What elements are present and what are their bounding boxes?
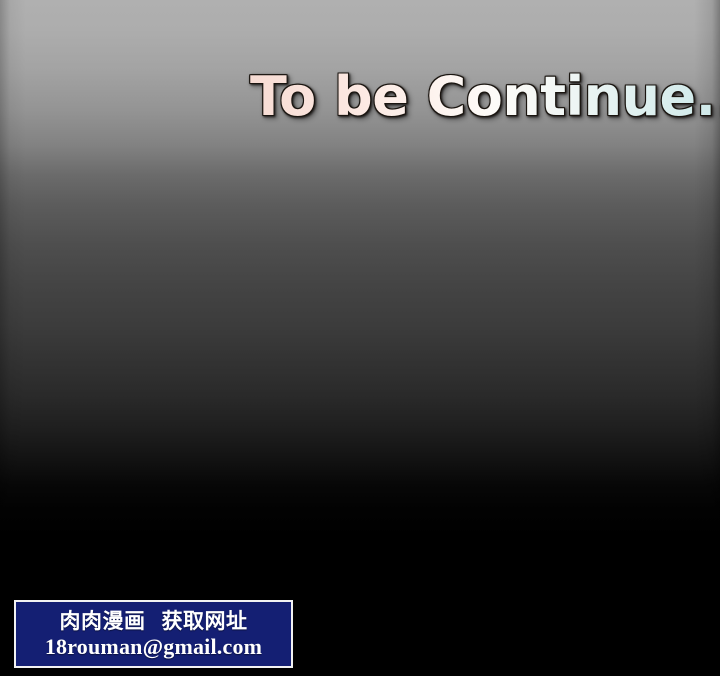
comic-end-page: To be Continue... 肉肉漫画 获取网址 18rouman@gma… <box>0 0 720 676</box>
watermark-title-row: 肉肉漫画 获取网址 <box>60 608 248 634</box>
watermark-brand-name: 肉肉漫画 <box>60 608 146 634</box>
watermark-email: 18rouman@gmail.com <box>45 634 262 660</box>
watermark-call-to-action: 获取网址 <box>162 608 248 634</box>
watermark-banner: 肉肉漫画 获取网址 18rouman@gmail.com <box>14 600 293 668</box>
headline-container: To be Continue... <box>250 62 720 138</box>
to-be-continued-text: To be Continue... <box>250 62 720 132</box>
